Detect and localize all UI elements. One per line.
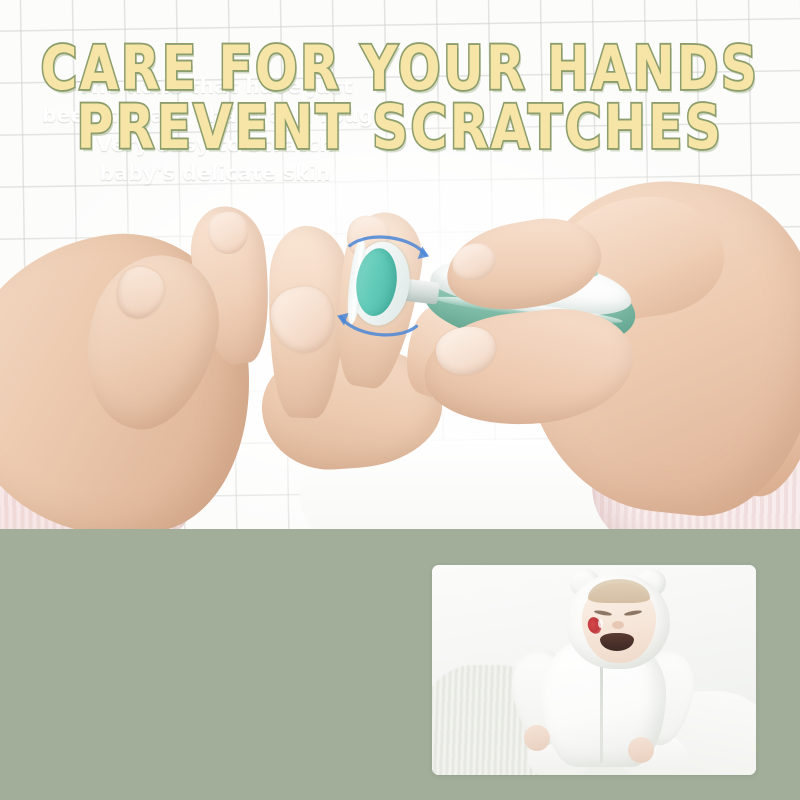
baby-nose [612,621,624,629]
headline: CARE FOR YOUR HANDS PREVENT SCRATCHES [0,40,800,158]
headline-line-1: CARE FOR YOUR HANDS [0,40,800,97]
headline-line-2: PREVENT SCRATCHES [0,99,800,156]
baby-hand-left [524,725,550,751]
claim-line-4: baby's delicate skin [8,159,422,188]
crying-baby-photo [432,565,756,775]
tear-drop [598,619,603,628]
baby-hand-right [628,737,654,763]
product-banner: CARE FOR YOUR HANDS PREVENT SCRATCHES Th… [0,0,800,800]
top-photo-section: CARE FOR YOUR HANDS PREVENT SCRATCHES [0,0,800,529]
